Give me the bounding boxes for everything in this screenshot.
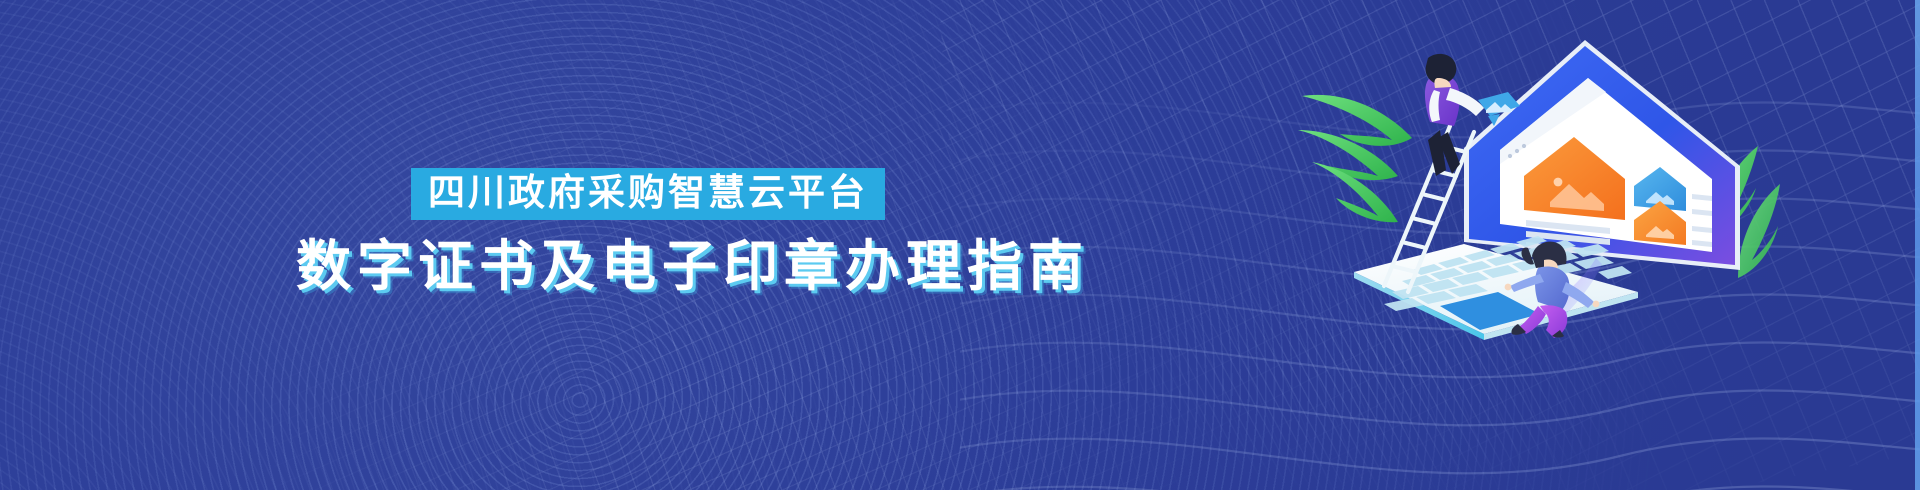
platform-badge-label: 四川政府采购智慧云平台 — [428, 174, 868, 211]
hero-illustration — [1288, 34, 1788, 334]
platform-badge: 四川政府采购智慧云平台 — [411, 168, 885, 220]
right-edge-accent-strip — [1915, 0, 1920, 490]
headline-block: 四川政府采购智慧云平台 数字证书及电子印章办理指南 — [0, 168, 1160, 298]
banner-root: 四川政府采购智慧云平台 数字证书及电子印章办理指南 — [0, 0, 1920, 490]
leaf-icon-left — [1298, 95, 1412, 222]
page-title: 数字证书及电子印章办理指南 — [296, 236, 1160, 298]
